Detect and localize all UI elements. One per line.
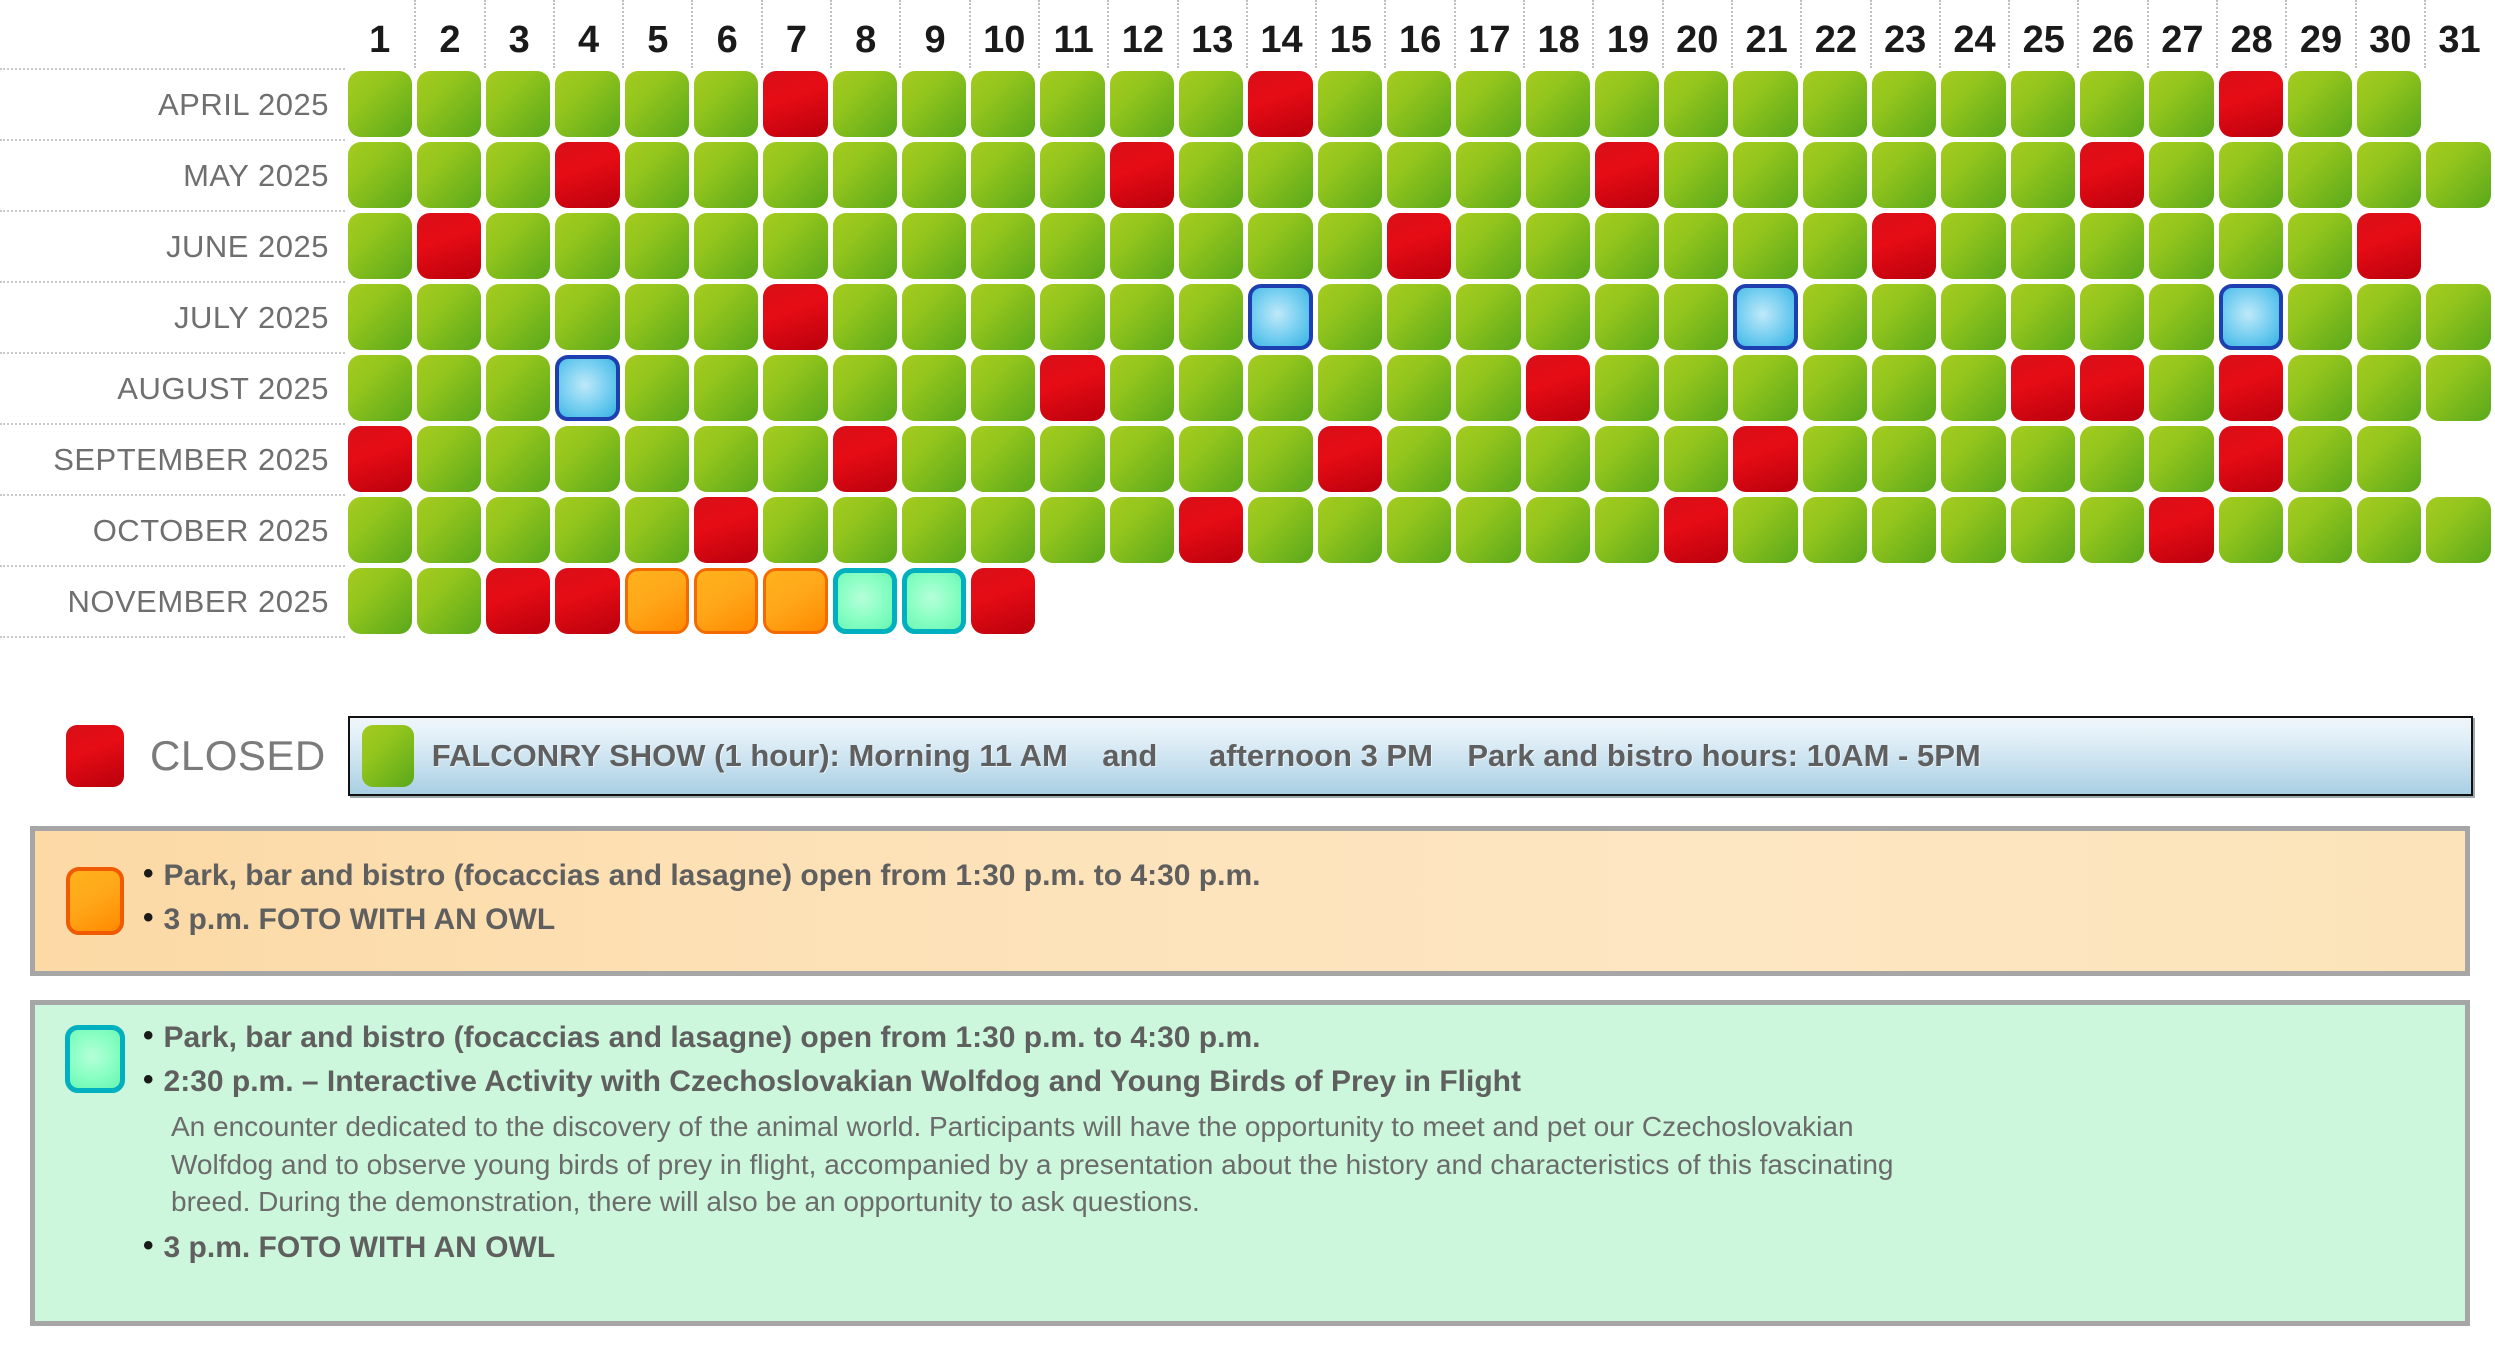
day-cell-15-green[interactable] — [1318, 355, 1382, 421]
day-cell-15-green[interactable] — [1318, 142, 1382, 208]
day-cell-20-green[interactable] — [1664, 284, 1728, 350]
day-cell-10-green[interactable] — [971, 142, 1035, 208]
day-cell-28-green[interactable] — [2219, 497, 2283, 563]
day-cell-1-green[interactable] — [348, 497, 412, 563]
day-cell-19-green[interactable] — [1595, 426, 1659, 492]
day-cell-15-empty — [1318, 568, 1382, 634]
day-cell-slot — [1384, 565, 1453, 636]
day-cell-24-green[interactable] — [1941, 142, 2005, 208]
day-cell-slot — [1731, 139, 1800, 210]
green-note-line-2: • 2:30 p.m. – Interactive Activity with … — [143, 1063, 2455, 1101]
day-cell-slot — [1246, 565, 1315, 636]
day-cell-4-green[interactable] — [555, 426, 619, 492]
day-cell-1-green[interactable] — [348, 284, 412, 350]
day-cell-28-red[interactable] — [2219, 426, 2283, 492]
day-cell-slot — [830, 494, 899, 565]
day-cell-4-green[interactable] — [555, 497, 619, 563]
day-cell-slot — [899, 281, 968, 352]
day-cell-28-red[interactable] — [2219, 355, 2283, 421]
day-cell-15-green[interactable] — [1318, 497, 1382, 563]
day-cell-11-green[interactable] — [1040, 497, 1104, 563]
day-cell-8-teal[interactable] — [833, 568, 897, 634]
day-cell-2-green[interactable] — [417, 71, 481, 137]
day-cell-6-green[interactable] — [694, 213, 758, 279]
day-cell-16-green[interactable] — [1387, 355, 1451, 421]
day-cell-14-blue[interactable] — [1248, 284, 1312, 350]
day-cell-slot — [484, 139, 553, 210]
day-cell-slot — [761, 565, 830, 636]
day-cell-17-green[interactable] — [1456, 142, 1520, 208]
day-cell-16-green[interactable] — [1387, 497, 1451, 563]
day-cell-12-green[interactable] — [1110, 497, 1174, 563]
day-cell-21-green[interactable] — [1733, 71, 1797, 137]
day-cell-25-green[interactable] — [2011, 71, 2075, 137]
day-cell-slot — [1592, 139, 1661, 210]
day-cell-3-green[interactable] — [486, 355, 550, 421]
day-cell-8-green[interactable] — [833, 284, 897, 350]
day-cell-1-green[interactable] — [348, 71, 412, 137]
day-cell-6-green[interactable] — [694, 355, 758, 421]
day-cell-22-green[interactable] — [1803, 355, 1867, 421]
day-header-4: 4 — [553, 0, 622, 68]
day-cell-13-green[interactable] — [1179, 284, 1243, 350]
day-cell-28-blue[interactable] — [2219, 284, 2283, 350]
day-cell-27-green[interactable] — [2149, 426, 2213, 492]
day-cell-5-green[interactable] — [625, 426, 689, 492]
day-cell-slot — [2216, 281, 2285, 352]
day-cell-8-green[interactable] — [833, 355, 897, 421]
day-cell-23-red[interactable] — [1872, 213, 1936, 279]
day-cell-31-green[interactable] — [2426, 497, 2490, 563]
day-cell-27-green[interactable] — [2149, 284, 2213, 350]
day-cell-29-green[interactable] — [2288, 497, 2352, 563]
day-cell-27-green[interactable] — [2149, 142, 2213, 208]
day-cell-21-green[interactable] — [1733, 213, 1797, 279]
day-cell-25-red[interactable] — [2011, 355, 2075, 421]
day-cell-16-green[interactable] — [1387, 284, 1451, 350]
day-cell-19-green[interactable] — [1595, 284, 1659, 350]
day-cell-15-green[interactable] — [1318, 71, 1382, 137]
day-cell-27-green[interactable] — [2149, 71, 2213, 137]
day-cell-2-green[interactable] — [417, 355, 481, 421]
day-cell-slot — [414, 352, 483, 423]
day-cell-slot — [1246, 494, 1315, 565]
day-cell-9-teal[interactable] — [902, 568, 966, 634]
day-cell-6-green[interactable] — [694, 71, 758, 137]
day-cell-29-green[interactable] — [2288, 284, 2352, 350]
day-cell-14-red[interactable] — [1248, 71, 1312, 137]
day-cell-14-green[interactable] — [1248, 142, 1312, 208]
day-cell-6-red[interactable] — [694, 497, 758, 563]
day-cell-23-green[interactable] — [1872, 71, 1936, 137]
day-cell-21-green[interactable] — [1733, 142, 1797, 208]
day-cell-13-green[interactable] — [1179, 213, 1243, 279]
day-cell-3-green[interactable] — [486, 284, 550, 350]
day-cell-18-green[interactable] — [1526, 213, 1590, 279]
month-day-strip — [345, 494, 2495, 565]
day-cell-31-green[interactable] — [2426, 284, 2490, 350]
day-cell-11-green[interactable] — [1040, 71, 1104, 137]
day-cell-9-green[interactable] — [902, 213, 966, 279]
day-cell-3-green[interactable] — [486, 142, 550, 208]
day-cell-14-green[interactable] — [1248, 497, 1312, 563]
day-cell-22-green[interactable] — [1803, 497, 1867, 563]
day-cell-slot — [484, 210, 553, 281]
day-cell-15-red[interactable] — [1318, 426, 1382, 492]
day-cell-23-green[interactable] — [1872, 284, 1936, 350]
day-cell-9-green[interactable] — [902, 426, 966, 492]
day-cell-26-green[interactable] — [2080, 284, 2144, 350]
day-cell-7-green[interactable] — [763, 213, 827, 279]
day-cell-2-green[interactable] — [417, 426, 481, 492]
day-cell-17-green[interactable] — [1456, 355, 1520, 421]
green-note-line-3-text: 3 p.m. FOTO WITH AN OWL — [164, 1229, 556, 1267]
day-cell-5-green[interactable] — [625, 284, 689, 350]
day-cell-29-green[interactable] — [2288, 71, 2352, 137]
day-cell-7-red[interactable] — [763, 71, 827, 137]
day-cell-30-green[interactable] — [2357, 497, 2421, 563]
day-cell-slot — [2147, 494, 2216, 565]
day-cell-5-green[interactable] — [625, 71, 689, 137]
day-cell-4-green[interactable] — [555, 213, 619, 279]
day-cell-24-green[interactable] — [1941, 213, 2005, 279]
bullet-icon: • — [143, 1019, 154, 1054]
day-cell-10-green[interactable] — [971, 71, 1035, 137]
day-cell-27-green[interactable] — [2149, 213, 2213, 279]
day-cell-slot — [1454, 352, 1523, 423]
day-cell-14-green[interactable] — [1248, 355, 1312, 421]
day-cell-23-green[interactable] — [1872, 355, 1936, 421]
day-cell-9-green[interactable] — [902, 355, 966, 421]
day-cell-1-green[interactable] — [348, 355, 412, 421]
day-cell-14-green[interactable] — [1248, 426, 1312, 492]
day-cell-11-green[interactable] — [1040, 284, 1104, 350]
day-cell-10-red[interactable] — [971, 568, 1035, 634]
day-cell-slot — [1384, 423, 1453, 494]
day-cell-26-green[interactable] — [2080, 497, 2144, 563]
day-cell-slot — [899, 423, 968, 494]
day-cell-slot — [899, 210, 968, 281]
day-cell-1-green[interactable] — [348, 142, 412, 208]
day-cell-9-green[interactable] — [902, 142, 966, 208]
day-cell-11-red[interactable] — [1040, 355, 1104, 421]
day-cell-13-green[interactable] — [1179, 142, 1243, 208]
day-cell-21-green[interactable] — [1733, 497, 1797, 563]
day-cell-slot — [2077, 68, 2146, 139]
calendar-row: MAY 2025 — [0, 139, 2495, 210]
day-cell-30-green[interactable] — [2357, 284, 2421, 350]
day-cell-slot — [1246, 68, 1315, 139]
day-cell-slot — [553, 494, 622, 565]
day-cell-11-green[interactable] — [1040, 213, 1104, 279]
day-cell-19-green[interactable] — [1595, 355, 1659, 421]
day-cell-1-red[interactable] — [348, 426, 412, 492]
day-cell-2-green[interactable] — [417, 284, 481, 350]
day-cell-4-green[interactable] — [555, 71, 619, 137]
day-cell-8-red[interactable] — [833, 426, 897, 492]
day-cell-17-green[interactable] — [1456, 284, 1520, 350]
day-cell-12-green[interactable] — [1110, 426, 1174, 492]
day-cell-23-green[interactable] — [1872, 426, 1936, 492]
orange-note-chip-wrap — [49, 867, 141, 935]
day-header-8: 8 — [830, 0, 899, 68]
day-cell-17-green[interactable] — [1456, 497, 1520, 563]
day-cell-21-blue[interactable] — [1733, 284, 1797, 350]
day-cell-18-green[interactable] — [1526, 142, 1590, 208]
orange-note-body: • Park, bar and bistro (focaccias and la… — [141, 857, 2455, 946]
day-cell-2-green[interactable] — [417, 568, 481, 634]
day-cell-slot — [2147, 210, 2216, 281]
day-cell-12-green[interactable] — [1110, 213, 1174, 279]
day-cell-slot — [1592, 281, 1661, 352]
day-cell-slot — [2147, 68, 2216, 139]
falconry-show-banner: FALCONRY SHOW (1 hour): Morning 11 AM an… — [348, 716, 2473, 796]
day-cell-slot — [761, 494, 830, 565]
day-cell-31-green[interactable] — [2426, 355, 2490, 421]
day-cell-slot — [1384, 68, 1453, 139]
day-cell-15-green[interactable] — [1318, 213, 1382, 279]
day-header-22: 22 — [1800, 0, 1869, 68]
day-cell-slot — [899, 68, 968, 139]
day-cell-30-red[interactable] — [2357, 213, 2421, 279]
day-cell-slot — [1731, 423, 1800, 494]
day-cell-25-green[interactable] — [2011, 284, 2075, 350]
day-cell-30-green[interactable] — [2357, 142, 2421, 208]
day-header-26: 26 — [2077, 0, 2146, 68]
day-cell-20-green[interactable] — [1664, 71, 1728, 137]
day-header-17: 17 — [1454, 0, 1523, 68]
day-cell-23-green[interactable] — [1872, 497, 1936, 563]
day-cell-7-red[interactable] — [763, 284, 827, 350]
day-cell-10-green[interactable] — [971, 426, 1035, 492]
day-cell-21-red[interactable] — [1733, 426, 1797, 492]
day-cell-12-green[interactable] — [1110, 355, 1174, 421]
day-cell-10-green[interactable] — [971, 284, 1035, 350]
day-cell-29-green[interactable] — [2288, 142, 2352, 208]
day-cell-18-green[interactable] — [1526, 71, 1590, 137]
day-cell-slot — [2424, 423, 2493, 494]
day-cell-26-green[interactable] — [2080, 426, 2144, 492]
day-cell-16-green[interactable] — [1387, 71, 1451, 137]
day-cell-7-orange[interactable] — [763, 568, 827, 634]
day-cell-24-green[interactable] — [1941, 355, 2005, 421]
day-cell-19-green[interactable] — [1595, 213, 1659, 279]
day-cell-18-green[interactable] — [1526, 497, 1590, 563]
day-cell-31-green[interactable] — [2426, 142, 2490, 208]
day-cell-20-red[interactable] — [1664, 497, 1728, 563]
day-cell-19-green[interactable] — [1595, 71, 1659, 137]
day-cell-10-green[interactable] — [971, 497, 1035, 563]
day-cell-29-green[interactable] — [2288, 355, 2352, 421]
day-cell-3-green[interactable] — [486, 426, 550, 492]
day-cell-3-green[interactable] — [486, 71, 550, 137]
day-cell-3-red[interactable] — [486, 568, 550, 634]
day-cell-4-red[interactable] — [555, 568, 619, 634]
day-cell-22-green[interactable] — [1803, 71, 1867, 137]
day-cell-4-blue[interactable] — [555, 355, 619, 421]
day-cell-15-green[interactable] — [1318, 284, 1382, 350]
day-cell-12-green[interactable] — [1110, 284, 1174, 350]
day-cell-6-orange[interactable] — [694, 568, 758, 634]
day-cell-26-green[interactable] — [2080, 213, 2144, 279]
day-cell-slot — [1315, 423, 1384, 494]
day-cell-20-green[interactable] — [1664, 213, 1728, 279]
day-cell-13-red[interactable] — [1179, 497, 1243, 563]
green-note-paragraph-3: breed. During the demonstration, there w… — [143, 1183, 2455, 1221]
day-cell-1-green[interactable] — [348, 213, 412, 279]
day-cell-9-green[interactable] — [902, 284, 966, 350]
day-cell-11-green[interactable] — [1040, 142, 1104, 208]
day-cell-slot — [830, 139, 899, 210]
day-cell-17-green[interactable] — [1456, 71, 1520, 137]
month-label: AUGUST 2025 — [0, 352, 345, 425]
day-cell-slot — [2147, 352, 2216, 423]
day-cell-12-green[interactable] — [1110, 71, 1174, 137]
day-cell-20-green[interactable] — [1664, 355, 1728, 421]
day-cell-19-red[interactable] — [1595, 142, 1659, 208]
day-cell-5-green[interactable] — [625, 497, 689, 563]
schedule-calendar-page: 1234567891011121314151617181920212223242… — [0, 0, 2495, 1347]
day-cell-9-green[interactable] — [902, 71, 966, 137]
day-cell-slot — [1315, 210, 1384, 281]
day-header-12: 12 — [1107, 0, 1176, 68]
day-cell-5-green[interactable] — [625, 355, 689, 421]
day-cell-30-green[interactable] — [2357, 426, 2421, 492]
day-cell-24-green[interactable] — [1941, 71, 2005, 137]
day-cell-21-green[interactable] — [1733, 355, 1797, 421]
day-cell-slot — [484, 352, 553, 423]
day-cell-20-green[interactable] — [1664, 426, 1728, 492]
day-cell-3-green[interactable] — [486, 497, 550, 563]
day-cell-24-green[interactable] — [1941, 426, 2005, 492]
day-cell-7-green[interactable] — [763, 142, 827, 208]
day-cell-24-green[interactable] — [1941, 284, 2005, 350]
day-cell-slot — [2008, 494, 2077, 565]
day-cell-6-green[interactable] — [694, 426, 758, 492]
day-cell-19-green[interactable] — [1595, 497, 1659, 563]
day-cell-4-red[interactable] — [555, 142, 619, 208]
day-cell-13-green[interactable] — [1179, 71, 1243, 137]
day-cell-7-green[interactable] — [763, 355, 827, 421]
day-cell-slot — [1870, 423, 1939, 494]
day-cell-slot — [969, 68, 1038, 139]
day-cell-21-empty — [1733, 568, 1797, 634]
day-cell-26-red[interactable] — [2080, 355, 2144, 421]
day-cell-slot — [2216, 68, 2285, 139]
day-cell-2-green[interactable] — [417, 497, 481, 563]
day-cell-11-green[interactable] — [1040, 426, 1104, 492]
day-cell-20-green[interactable] — [1664, 142, 1728, 208]
day-cell-29-green[interactable] — [2288, 213, 2352, 279]
day-cell-16-red[interactable] — [1387, 213, 1451, 279]
day-cell-25-green[interactable] — [2011, 213, 2075, 279]
day-cell-12-red[interactable] — [1110, 142, 1174, 208]
day-cell-slot — [1177, 565, 1246, 636]
day-cell-8-green[interactable] — [833, 71, 897, 137]
day-cell-slot — [1523, 494, 1592, 565]
day-cell-10-green[interactable] — [971, 355, 1035, 421]
day-cell-27-green[interactable] — [2149, 355, 2213, 421]
day-cell-18-green[interactable] — [1526, 284, 1590, 350]
day-cell-16-green[interactable] — [1387, 426, 1451, 492]
day-cell-5-orange[interactable] — [625, 568, 689, 634]
day-cell-13-green[interactable] — [1179, 426, 1243, 492]
day-cell-9-green[interactable] — [902, 497, 966, 563]
day-cell-slot — [1038, 494, 1107, 565]
day-cell-5-green[interactable] — [625, 142, 689, 208]
day-cell-slot — [2355, 494, 2424, 565]
calendar-month-rows: APRIL 2025MAY 2025JUNE 2025JULY 2025AUGU… — [0, 68, 2495, 636]
day-cell-6-green[interactable] — [694, 284, 758, 350]
day-cell-18-green[interactable] — [1526, 426, 1590, 492]
day-cell-slot — [1246, 210, 1315, 281]
day-cell-3-green[interactable] — [486, 213, 550, 279]
day-cell-28-green[interactable] — [2219, 213, 2283, 279]
day-cell-slot — [414, 139, 483, 210]
day-cell-25-green[interactable] — [2011, 426, 2075, 492]
day-cell-24-green[interactable] — [1941, 497, 2005, 563]
day-cell-27-red[interactable] — [2149, 497, 2213, 563]
day-cell-30-green[interactable] — [2357, 355, 2421, 421]
day-cell-8-green[interactable] — [833, 213, 897, 279]
day-cell-2-red[interactable] — [417, 213, 481, 279]
day-cell-4-green[interactable] — [555, 284, 619, 350]
day-cell-slot — [899, 352, 968, 423]
day-cell-28-green[interactable] — [2219, 142, 2283, 208]
day-cell-6-green[interactable] — [694, 142, 758, 208]
day-cell-1-green[interactable] — [348, 568, 412, 634]
day-cell-26-green[interactable] — [2080, 71, 2144, 137]
day-cell-28-red[interactable] — [2219, 71, 2283, 137]
day-header-24: 24 — [1939, 0, 2008, 68]
day-cell-18-red[interactable] — [1526, 355, 1590, 421]
day-cell-25-green[interactable] — [2011, 497, 2075, 563]
day-cell-slot — [1939, 494, 2008, 565]
day-cell-23-green[interactable] — [1872, 142, 1936, 208]
day-cell-26-red[interactable] — [2080, 142, 2144, 208]
day-cell-slot — [484, 565, 553, 636]
day-cell-22-green[interactable] — [1803, 142, 1867, 208]
day-cell-13-green[interactable] — [1179, 355, 1243, 421]
day-cell-slot — [2285, 494, 2354, 565]
day-cell-slot — [622, 565, 691, 636]
day-cell-22-green[interactable] — [1803, 284, 1867, 350]
day-cell-22-green[interactable] — [1803, 426, 1867, 492]
day-cell-2-green[interactable] — [417, 142, 481, 208]
day-cell-16-green[interactable] — [1387, 142, 1451, 208]
day-cell-slot — [1731, 68, 1800, 139]
day-cell-slot — [2355, 210, 2424, 281]
day-cell-5-green[interactable] — [625, 213, 689, 279]
day-cell-slot — [969, 281, 1038, 352]
day-cell-29-green[interactable] — [2288, 426, 2352, 492]
day-cell-8-green[interactable] — [833, 142, 897, 208]
day-cell-30-green[interactable] — [2357, 71, 2421, 137]
day-cell-22-green[interactable] — [1803, 213, 1867, 279]
day-cell-17-green[interactable] — [1456, 426, 1520, 492]
day-cell-8-green[interactable] — [833, 497, 897, 563]
day-cell-17-green[interactable] — [1456, 213, 1520, 279]
day-cell-14-green[interactable] — [1248, 213, 1312, 279]
day-cell-10-green[interactable] — [971, 213, 1035, 279]
day-cell-slot — [1870, 139, 1939, 210]
day-cell-25-green[interactable] — [2011, 142, 2075, 208]
day-cell-7-green[interactable] — [763, 426, 827, 492]
day-cell-7-green[interactable] — [763, 497, 827, 563]
day-cell-slot — [2147, 281, 2216, 352]
month-label: SEPTEMBER 2025 — [0, 423, 345, 496]
day-cell-slot — [1870, 210, 1939, 281]
